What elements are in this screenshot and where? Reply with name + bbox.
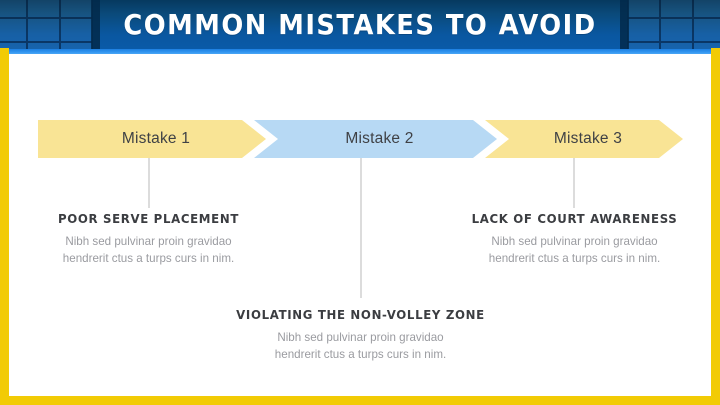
header-underline	[0, 49, 720, 54]
mistake-block-2: VIOLATING THE NON-VOLLEY ZONE Nibh sed p…	[222, 307, 499, 364]
connector-line-2	[360, 158, 362, 298]
mistake-block-3: LACK OF COURT AWARENESS Nibh sed pulvina…	[448, 211, 701, 268]
mistake-block-1: POOR SERVE PLACEMENT Nibh sed pulvinar p…	[22, 211, 275, 268]
chevron-step-1-label: Mistake 1	[122, 130, 190, 148]
mistake-block-1-title: POOR SERVE PLACEMENT	[30, 211, 268, 226]
chevron-step-2[interactable]: Mistake 2	[254, 120, 497, 158]
mistake-block-2-body: Nibh sed pulvinar proin gravidao hendrer…	[222, 329, 499, 364]
header-banner: COMMON MISTAKES TO AVOID	[0, 0, 720, 49]
chevron-step-3[interactable]: Mistake 3	[485, 120, 683, 158]
mistake-block-1-body: Nibh sed pulvinar proin gravidao hendrer…	[22, 233, 275, 268]
page-title: COMMON MISTAKES TO AVOID	[29, 0, 691, 49]
chevron-step-1[interactable]: Mistake 1	[38, 120, 266, 158]
connector-line-1	[148, 158, 150, 208]
chevron-step-2-label: Mistake 2	[345, 130, 413, 148]
mistake-block-3-title: LACK OF COURT AWARENESS	[456, 211, 694, 226]
chevron-step-3-label: Mistake 3	[554, 130, 622, 148]
slide: COMMON MISTAKES TO AVOID Mistake 1 Mista…	[0, 0, 720, 405]
connector-line-3	[573, 158, 575, 208]
frame-border-right	[711, 48, 720, 405]
frame-border-bottom	[0, 396, 720, 405]
chevron-band: Mistake 1 Mistake 2 Mistake 3	[38, 120, 683, 158]
mistake-block-3-body: Nibh sed pulvinar proin gravidao hendrer…	[448, 233, 701, 268]
frame-border-left	[0, 48, 9, 405]
mistake-block-2-title: VIOLATING THE NON-VOLLEY ZONE	[230, 307, 490, 322]
